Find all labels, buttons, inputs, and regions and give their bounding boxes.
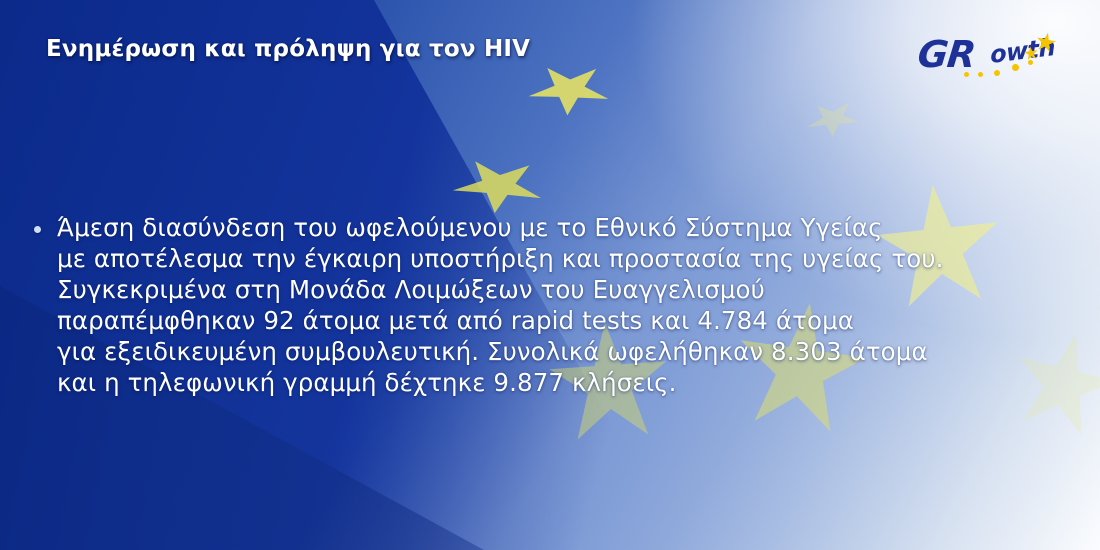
logo-dot [978,72,983,77]
logo-text-gr: GR [916,36,977,73]
presentation-slide: Ενημέρωση και πρόληψη για τον HIV GR owt… [0,0,1100,550]
star-icon [1001,319,1100,445]
body-line: Άμεση διασύνδεση του ωφελούμενου με το Ε… [57,212,988,243]
body-bullet-block: Άμεση διασύνδεση του ωφελούμενου με το Ε… [28,212,988,398]
growth-logo: GR owth [916,30,1076,88]
body-line: Συγκεκριμένα στη Μονάδα Λοιμώξεων του Ευ… [57,274,988,305]
star-icon [511,53,625,123]
body-line: με αποτέλεσμα την έγκαιρη υποστήριξη και… [57,243,988,274]
body-line: για εξειδικευμένη συμβουλευτική. Συνολικ… [57,336,988,367]
logo-dot [994,70,1000,76]
slide-title: Ενημέρωση και πρόληψη για τον HIV [46,36,530,62]
body-text: Άμεση διασύνδεση του ωφελούμενου με το Ε… [57,212,988,398]
logo-text-owth: owth [990,35,1056,67]
star-icon [434,147,559,220]
star-icon [795,93,870,144]
body-line: παραπέμφθηκαν 92 άτομα μετά από rapid te… [57,305,988,336]
body-line: και η τηλεφωνική γραμμή δέχτηκε 9.877 κλ… [57,367,988,398]
bullet-marker [34,226,41,233]
